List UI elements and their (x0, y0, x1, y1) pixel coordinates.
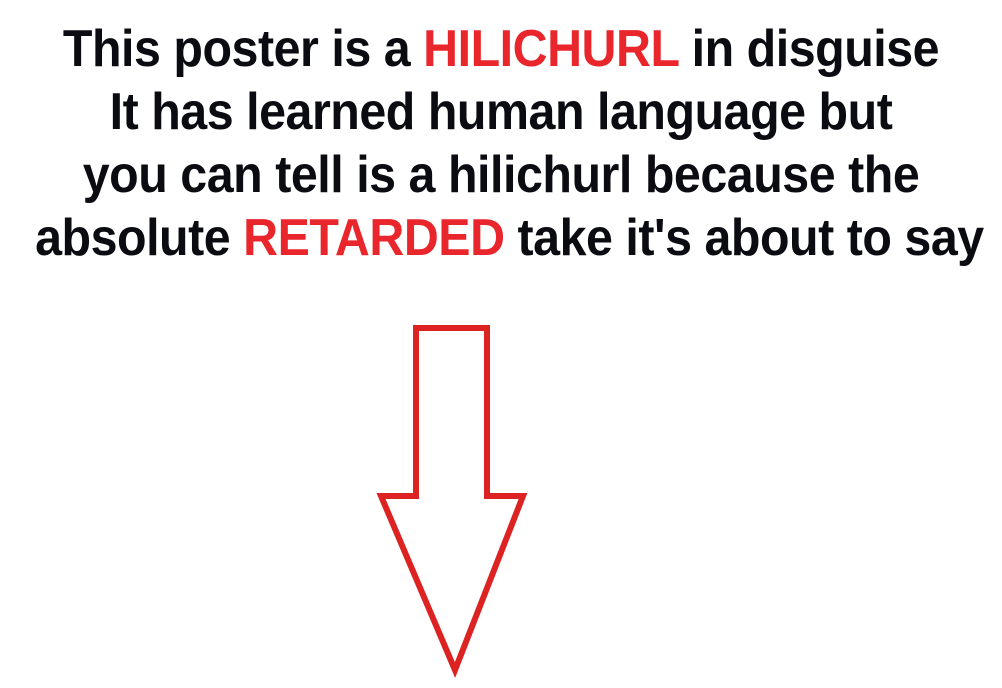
caption-line-2: It has learned human language but (35, 81, 967, 144)
caption-line-4: absolute RETARDED take it's about to say (35, 207, 967, 270)
caption-line-4-text-a: absolute (35, 209, 243, 267)
caption-line-4-text-b: take it's about to say (505, 209, 984, 267)
caption-block: This poster is a HILICHURL in disguise I… (0, 18, 1002, 270)
caption-highlight-retarded: RETARDED (243, 209, 504, 267)
meme-canvas: This poster is a HILICHURL in disguise I… (0, 0, 1002, 688)
caption-highlight-hilichurl: HILICHURL (423, 20, 679, 78)
caption-line-3: you can tell is a hilichurl because the (35, 144, 967, 207)
down-arrow-outline (381, 328, 523, 670)
caption-line-1: This poster is a HILICHURL in disguise (35, 18, 967, 81)
caption-line-1-text-b: in disguise (679, 20, 939, 78)
caption-line-1-text-a: This poster is a (63, 20, 423, 78)
